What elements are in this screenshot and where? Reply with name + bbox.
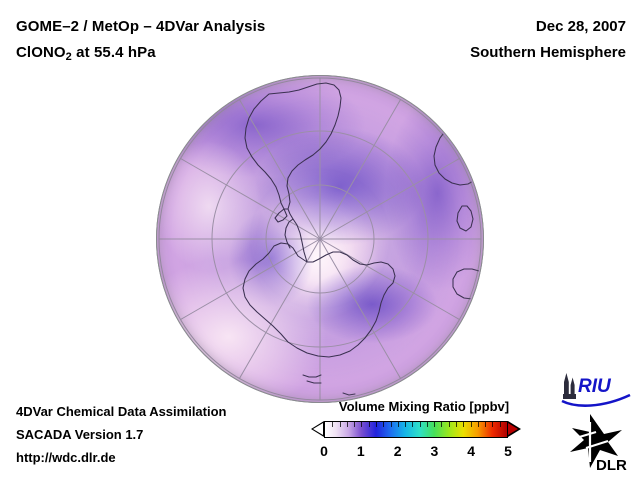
colorbar-tick-label: 3 <box>430 443 438 459</box>
colorbar-minor-tick <box>398 422 399 427</box>
riu-tower-icon <box>563 373 576 399</box>
footer-line-url[interactable]: http://wdc.dlr.de <box>16 446 227 469</box>
footer-line-version: SACADA Version 1.7 <box>16 423 227 446</box>
colorbar-minor-tick <box>354 422 355 427</box>
species-label: ClONO <box>16 44 66 61</box>
colorbar-gradient-bar <box>324 421 508 438</box>
colorbar-cap-high-fill <box>508 423 518 435</box>
colorbar-tick-label: 1 <box>357 443 365 459</box>
colorbar-row <box>306 419 546 441</box>
colorbar-tick-label: 0 <box>320 443 328 459</box>
colorbar-minor-tick <box>434 422 435 427</box>
colorbar-minor-tick <box>369 422 370 427</box>
colorbar-minor-ticks <box>325 422 507 428</box>
pressure-level-label: at 55.4 hPa <box>72 44 156 61</box>
globe-limb-outline <box>156 75 484 403</box>
globe-map <box>157 76 483 402</box>
colorbar-cap-low-fill <box>313 423 323 435</box>
colorbar-minor-tick <box>376 422 377 427</box>
colorbar-minor-tick <box>500 422 501 427</box>
riu-wordmark: RIU <box>578 376 612 397</box>
species-level-line: ClONO2 at 55.4 hPa <box>16 40 156 70</box>
colorbar-minor-tick <box>361 422 362 427</box>
colorbar-minor-tick <box>347 422 348 427</box>
colorbar-tick-label: 4 <box>467 443 475 459</box>
colorbar-tick-labels: 012345 <box>306 443 546 463</box>
colorbar-minor-tick <box>427 422 428 427</box>
colorbar-minor-tick <box>412 422 413 427</box>
coastline-new-zealand <box>446 355 457 365</box>
colorbar-minor-tick <box>478 422 479 427</box>
colorbar-tick-label: 5 <box>504 443 512 459</box>
colorbar-minor-tick <box>471 422 472 427</box>
figure-header-left: GOME–2 / MetOp – 4DVar Analysis ClONO2 a… <box>16 14 265 40</box>
colorbar-minor-tick <box>420 422 421 427</box>
figure-footer: 4DVar Chemical Data Assimilation SACADA … <box>16 400 227 469</box>
colorbar-minor-tick <box>463 422 464 427</box>
colorbar-minor-tick <box>391 422 392 427</box>
colorbar-minor-tick <box>340 422 341 427</box>
hemisphere-label: Southern Hemisphere <box>470 40 626 66</box>
colorbar-title: Volume Mixing Ratio [ppbv] <box>309 399 539 414</box>
figure-header-right: Dec 28, 2007 Southern Hemisphere <box>536 14 626 40</box>
date-label: Dec 28, 2007 <box>536 18 626 35</box>
analysis-title: GOME–2 / MetOp – 4DVar Analysis <box>16 18 265 35</box>
colorbar-minor-tick <box>383 422 384 427</box>
colorbar-minor-tick <box>449 422 450 427</box>
colorbar-minor-tick <box>492 422 493 427</box>
footer-line-method: 4DVar Chemical Data Assimilation <box>16 400 227 423</box>
colorbar-minor-tick <box>405 422 406 427</box>
dlr-wordmark: DLR <box>596 457 627 474</box>
colorbar: Volume Mixing Ratio [ppbv] 012345 <box>306 399 546 463</box>
colorbar-minor-tick <box>485 422 486 427</box>
colorbar-minor-tick <box>456 422 457 427</box>
figure-canvas: GOME–2 / MetOp – 4DVar Analysis ClONO2 a… <box>0 0 640 480</box>
riu-logo: RIU <box>558 368 634 408</box>
colorbar-minor-tick <box>441 422 442 427</box>
dlr-logo: DLR <box>560 412 636 474</box>
colorbar-tick-label: 2 <box>394 443 402 459</box>
colorbar-minor-tick <box>332 422 333 427</box>
